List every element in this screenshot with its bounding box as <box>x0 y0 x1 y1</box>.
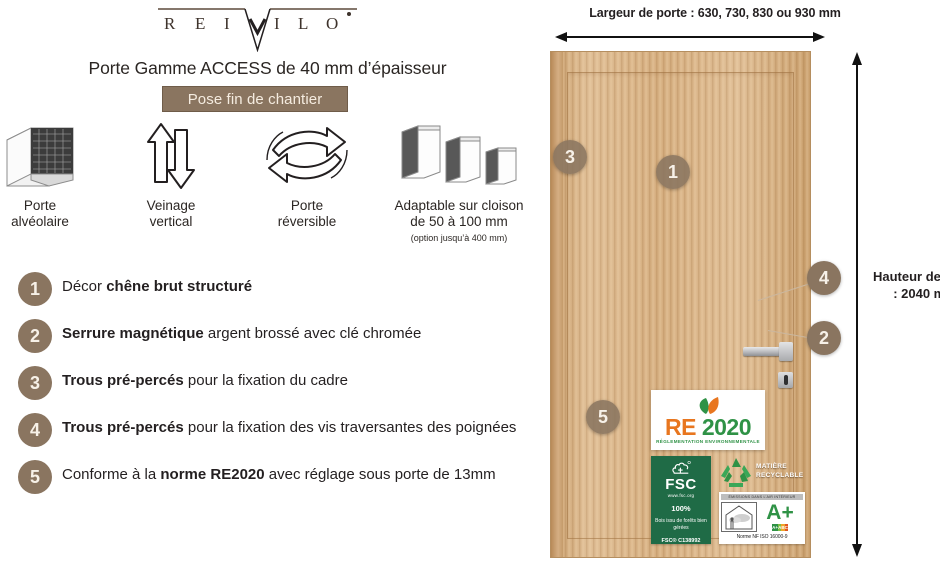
scale-c: C <box>785 524 788 531</box>
air-quality-grade: A+ A+ A B C <box>757 502 803 532</box>
list-item-text: Trous pré-percés pour la fixation des vi… <box>62 413 535 439</box>
callout-1: 1 <box>656 155 690 189</box>
fsc-label: FSC www.fsc.org 100% Bois issu de forêts… <box>651 456 711 544</box>
list-item: 3 Trous pré-percés pour la fixation du c… <box>10 366 535 402</box>
air-quality-header: ÉMISSIONS DANS L’AIR INTÉRIEUR <box>721 494 803 500</box>
fsc-percent: 100% <box>671 504 690 513</box>
reversible-arrows-icon <box>248 120 366 192</box>
recyclable-text: MATIÈRE RECYCLABLE <box>756 462 803 480</box>
feature-list: 1 Décor chêne brut structuré 2 Serrure m… <box>10 272 535 507</box>
house-emission-icon <box>721 502 757 532</box>
list-item: 5 Conforme à la norme RE2020 avec réglag… <box>10 460 535 496</box>
magnetic-lock-cylinder <box>778 372 793 388</box>
feature-item: Porte alvéolaire <box>0 120 80 229</box>
recyclable-line1: MATIÈRE <box>756 462 803 471</box>
feature-icon-row: Porte alvéolaire Veinage vertical <box>0 120 540 260</box>
recyclable-line2: RECYCLABLE <box>756 471 803 480</box>
list-item-text: Conforme à la norme RE2020 avec réglage … <box>62 460 535 486</box>
re2020-year: 2020 <box>702 414 751 440</box>
feature-label-line2: alvéolaire <box>0 214 80 230</box>
text-bold: Trous pré-percés <box>62 419 184 436</box>
air-quality-label: ÉMISSIONS DANS L’AIR INTÉRIEUR A+ <box>719 492 805 544</box>
svg-text:E: E <box>195 14 206 33</box>
re2020-re: RE <box>665 414 696 440</box>
callout-2: 2 <box>807 321 841 355</box>
svg-text:L: L <box>298 14 309 33</box>
list-number-badge: 5 <box>18 460 52 494</box>
text-bold: chêne brut structuré <box>106 278 252 295</box>
list-item-text: Trous pré-percés pour la fixation du cad… <box>62 366 535 392</box>
leaf-icon <box>693 396 723 415</box>
honeycomb-door-icon <box>0 120 80 192</box>
text-post: pour la fixation du cadre <box>184 372 348 389</box>
air-quality-body: A+ A+ A B C <box>721 502 803 532</box>
door-height-label: Hauteur de porte : 2040 mm <box>870 268 940 302</box>
partition-blocks-icon <box>378 120 540 192</box>
svg-text:I: I <box>224 14 231 33</box>
left-info-column: R E I I L O Porte Gamme ACCESS de 40 mm … <box>0 0 540 565</box>
fsc-tree-icon <box>664 460 698 475</box>
status-badge: Pose fin de chantier <box>162 86 348 112</box>
text-post: avec réglage sous porte de 13mm <box>265 466 496 483</box>
feature-label-line1: Porte <box>248 198 366 214</box>
product-spec-sheet: R E I I L O Porte Gamme ACCESS de 40 mm … <box>0 0 940 565</box>
feature-label-line1: Veinage <box>118 198 224 214</box>
list-item: 2 Serrure magnétique argent brossé avec … <box>10 319 535 355</box>
feature-label-line2: de 50 à 100 mm <box>378 214 540 230</box>
text-bold: Trous pré-percés <box>62 372 184 389</box>
re2020-wordmark: RE 2020 <box>665 415 751 439</box>
list-number-badge: 4 <box>18 413 52 447</box>
door-diagram-column: Largeur de porte : 630, 730, 830 ou 930 … <box>520 0 940 565</box>
feature-item: Veinage vertical <box>118 120 224 229</box>
callout-4: 4 <box>807 261 841 295</box>
width-dimension-arrow <box>555 30 825 44</box>
feature-label-line1: Adaptable sur cloison <box>378 198 540 214</box>
fsc-description: Bois issu de forêts bien gérées <box>651 518 711 531</box>
svg-text:I: I <box>274 14 281 33</box>
fsc-mark: FSC <box>665 477 697 492</box>
callout-3: 3 <box>553 140 587 174</box>
text-pre: Conforme à la <box>62 466 160 483</box>
recyclable-label: MATIÈRE RECYCLABLE <box>719 454 811 488</box>
grade-value: A+ <box>766 503 793 523</box>
text-bold: Serrure magnétique <box>62 325 204 342</box>
list-item: 4 Trous pré-percés pour la fixation des … <box>10 413 535 449</box>
re2020-logo: RE 2020 RÉGLEMENTATION ENVIRONNEMENTALE <box>651 390 765 450</box>
grade-scale: A+ A B C <box>772 524 788 531</box>
text-post: pour la fixation des vis traversantes de… <box>184 419 517 436</box>
height-dimension-arrow <box>850 52 864 557</box>
door-hinge-edge <box>551 52 563 557</box>
list-number-badge: 1 <box>18 272 52 306</box>
fsc-url: www.fsc.org <box>668 493 694 498</box>
text-pre: Décor <box>62 278 106 295</box>
up-down-arrows-icon <box>118 120 224 192</box>
feature-label-line1: Porte <box>0 198 80 214</box>
handle-rose <box>779 342 793 361</box>
list-number-badge: 3 <box>18 366 52 400</box>
list-item-text: Décor chêne brut structuré <box>62 272 535 298</box>
re2020-subtitle: RÉGLEMENTATION ENVIRONNEMENTALE <box>656 439 760 444</box>
list-number-badge: 2 <box>18 319 52 353</box>
svg-text:R: R <box>164 14 176 33</box>
list-item-text: Serrure magnétique argent brossé avec cl… <box>62 319 535 345</box>
list-item: 1 Décor chêne brut structuré <box>10 272 535 308</box>
fsc-code: FSC® C138992 <box>662 538 701 544</box>
feature-item: Adaptable sur cloison de 50 à 100 mm (op… <box>378 120 540 244</box>
text-bold: norme RE2020 <box>160 466 264 483</box>
door-illustration: RE 2020 RÉGLEMENTATION ENVIRONNEMENTALE … <box>551 52 810 557</box>
recycle-icon <box>719 455 753 487</box>
feature-note: (option jusqu’à 400 mm) <box>378 233 540 244</box>
callout-5: 5 <box>586 400 620 434</box>
page-title: Porte Gamme ACCESS de 40 mm d’épaisseur <box>0 58 535 79</box>
feature-label-line2: réversible <box>248 214 366 230</box>
door-width-label: Largeur de porte : 630, 730, 830 ou 930 … <box>530 6 900 20</box>
reivilo-logo: R E I I L O <box>150 2 365 52</box>
feature-label-line2: vertical <box>118 214 224 230</box>
air-quality-footer: Norme NF ISO 16000-9 <box>721 534 803 540</box>
feature-item: Porte réversible <box>248 120 366 229</box>
text-post: argent brossé avec clé chromée <box>204 325 422 342</box>
svg-text:O: O <box>326 14 339 33</box>
